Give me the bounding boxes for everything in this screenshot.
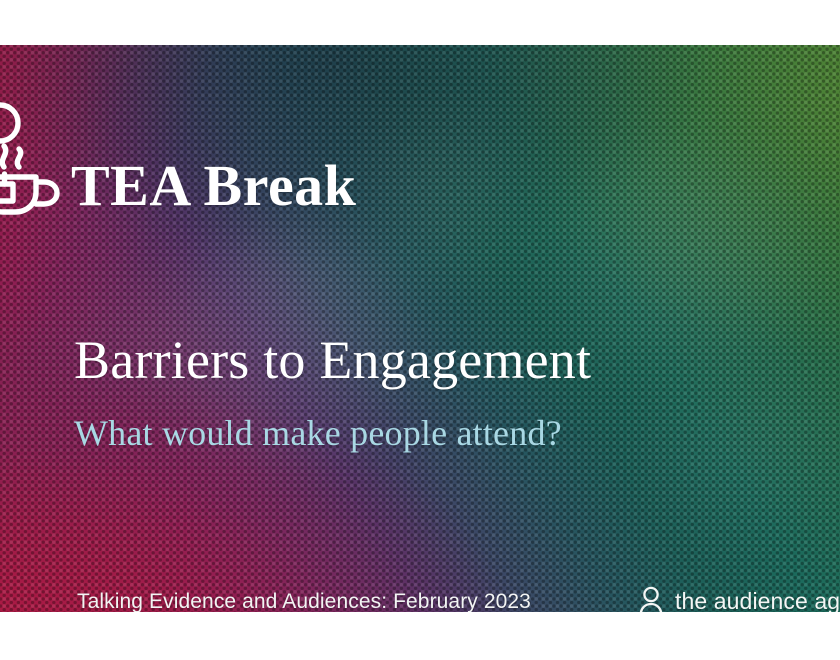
slide-content: TEA Break Barriers to Engagement What wo… <box>0 45 840 612</box>
page-title: Barriers to Engagement <box>74 332 591 388</box>
presentation-slide: TEA Break Barriers to Engagement What wo… <box>0 0 840 660</box>
agency-logo: the audience ag <box>638 585 840 612</box>
teacup-icon <box>0 100 70 218</box>
slide-artwork-panel: TEA Break Barriers to Engagement What wo… <box>0 45 840 612</box>
footer-caption: Talking Evidence and Audiences: February… <box>77 591 531 612</box>
slide-frame-top <box>0 0 840 45</box>
page-subtitle: What would make people attend? <box>74 414 562 454</box>
slide-frame-bottom <box>0 612 840 660</box>
series-title: TEA Break <box>71 157 356 215</box>
agency-name: the audience ag <box>675 590 840 613</box>
person-icon <box>638 585 664 612</box>
